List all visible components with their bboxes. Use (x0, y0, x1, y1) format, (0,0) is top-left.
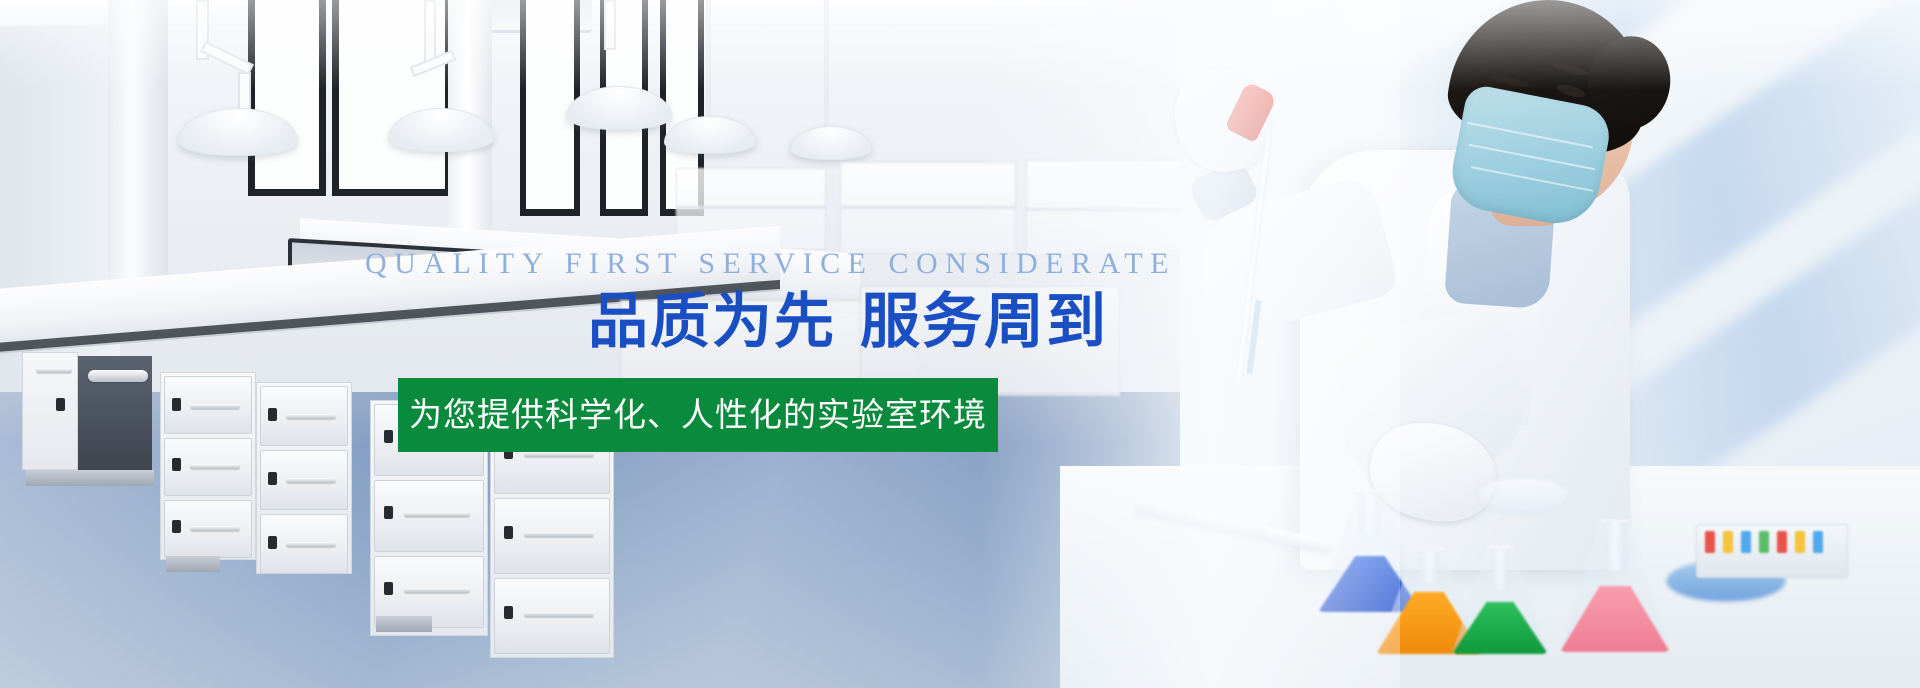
drawer-lock (268, 472, 277, 485)
drawer-handle (404, 512, 470, 517)
drawer-lock (268, 536, 277, 549)
cabinet-base (26, 470, 154, 486)
flask-pink (1560, 520, 1670, 652)
drawer-handle (286, 414, 336, 419)
drawer-lock (172, 458, 181, 471)
petri-dish (1476, 476, 1570, 514)
cabinet-lock (56, 398, 65, 411)
drawer-handle (190, 404, 240, 409)
drawer-handle (524, 532, 594, 537)
drawer-handle (190, 464, 240, 469)
drawer-lock (172, 398, 181, 411)
drawer-lock (384, 506, 393, 519)
test-tube-rack (1696, 524, 1848, 578)
test-tube (1777, 531, 1787, 553)
drawer-handle (88, 370, 148, 382)
drawer-handle (286, 542, 336, 547)
test-tube (1813, 531, 1823, 553)
cabinet-base (166, 556, 220, 572)
headline-part-right: 服务周到 (860, 287, 1108, 357)
drawer-lock (384, 582, 393, 595)
test-tube (1723, 531, 1733, 553)
banner-subtitle-text: 为您提供科学化、人性化的实验室环境 (409, 395, 987, 435)
drawer-handle (190, 526, 240, 531)
shelf-divider (676, 206, 826, 209)
cabinet-base (376, 616, 432, 632)
test-tube (1759, 531, 1769, 553)
drawer-handle (524, 612, 594, 617)
drawer-lock (504, 526, 513, 539)
drawer-handle (286, 478, 336, 483)
lab-hero-banner: QUALITY FIRST SERVICE CONSIDERATE 品质为先服务… (0, 0, 1920, 688)
banner-headline: 品质为先服务周到 (588, 288, 1108, 356)
drawer-lock (172, 520, 181, 533)
cabinet-handle (36, 368, 72, 373)
banner-eyebrow-tagline: QUALITY FIRST SERVICE CONSIDERATE (365, 247, 1176, 281)
test-tube (1741, 531, 1751, 553)
drawer-handle (524, 452, 594, 457)
drawer-lock (384, 430, 393, 443)
test-tube (1795, 531, 1805, 553)
top-light-vignette (0, 0, 1920, 90)
drawer-handle (404, 588, 470, 593)
drawer-lock (504, 606, 513, 619)
drawer-lock (268, 408, 277, 421)
headline-part-left: 品质为先 (588, 287, 836, 357)
banner-subtitle-bar: 为您提供科学化、人性化的实验室环境 (398, 378, 998, 452)
test-tube (1705, 531, 1715, 553)
flask-green (1452, 546, 1548, 654)
